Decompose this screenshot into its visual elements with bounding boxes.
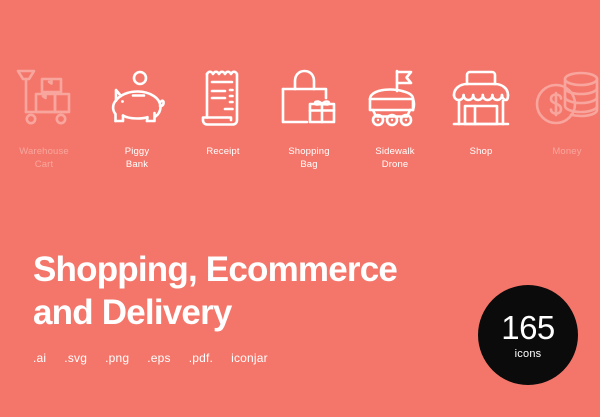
icon-cell-money: Money: [524, 62, 600, 187]
icon-label: Shopping Bag: [288, 146, 329, 171]
icon-cell-shop: Shop: [438, 62, 524, 187]
icon-label: Warehouse Cart: [19, 146, 69, 171]
format-item: .ai: [33, 351, 46, 365]
format-item: .svg: [64, 351, 87, 365]
sidewalk-drone-icon: [364, 62, 426, 136]
icon-label: Receipt: [206, 146, 239, 159]
icon-cell-shopping-bag: Shopping Bag: [266, 62, 352, 187]
shopping-bag-icon: [278, 62, 340, 136]
icon-label: Piggy Bank: [125, 146, 150, 171]
file-format-list: .ai .svg .png .eps .pdf. iconjar: [33, 351, 268, 365]
icon-cell-warehouse-cart: Warehouse Cart: [1, 62, 87, 187]
icon-count-badge: 165 icons: [478, 285, 578, 385]
badge-unit: icons: [515, 348, 542, 360]
page-title: Shopping, Ecommerce and Delivery: [33, 248, 463, 334]
icon-set-poster: Warehouse Cart Piggy Bank: [0, 0, 600, 417]
icon-cell-sidewalk-drone: Sidewalk Drone: [352, 62, 438, 187]
icon-preview-strip: Warehouse Cart Piggy Bank: [0, 62, 600, 187]
icon-label: Sidewalk Drone: [375, 146, 414, 171]
format-item: .pdf.: [189, 351, 213, 365]
icon-label: Money: [552, 146, 581, 159]
format-item: .png: [105, 351, 129, 365]
warehouse-cart-icon: [13, 62, 75, 136]
money-icon: [536, 62, 598, 136]
icon-label: Shop: [470, 146, 493, 159]
icon-cell-receipt: Receipt: [180, 62, 266, 187]
piggy-bank-icon: [106, 62, 168, 136]
shop-icon: [450, 62, 512, 136]
receipt-icon: [192, 62, 254, 136]
badge-count: 165: [501, 311, 555, 344]
format-item: iconjar: [231, 351, 268, 365]
icon-cell-piggy-bank: Piggy Bank: [94, 62, 180, 187]
format-item: .eps: [147, 351, 170, 365]
